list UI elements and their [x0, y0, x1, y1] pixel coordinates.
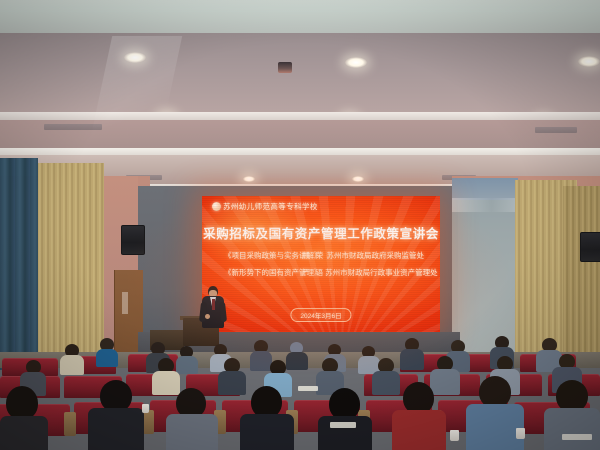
- audience-torso: [466, 404, 524, 450]
- ceiling-downlight: [124, 52, 146, 63]
- session-topic: 《项目采购政策与实务讲解》: [224, 250, 302, 261]
- seat-armrest: [64, 412, 76, 436]
- door-sign: [122, 292, 128, 314]
- audience-member: [152, 358, 180, 392]
- audience-torso: [88, 408, 144, 450]
- glass-reflection: [452, 198, 518, 212]
- presenter-arm-right: [219, 302, 227, 323]
- wall-speaker-left: [121, 225, 145, 255]
- wall-speaker-right: [580, 232, 600, 262]
- seated-audience: [0, 330, 600, 450]
- audience-torso: [240, 414, 294, 450]
- session-topic: 《新形势下的国有资产管理》: [224, 267, 302, 278]
- audience-torso: [60, 355, 84, 375]
- handout-paper: [330, 422, 356, 428]
- ceiling-vent: [535, 127, 577, 133]
- audience-member: [400, 338, 424, 368]
- led-display-screen: 苏州幼儿师范高等专科学校 ★ ★ ★ 采购招标及国有资产管理工作政策宣讲会 ★ …: [202, 196, 440, 335]
- session-row: 《项目采购政策与实务讲解》 顾 荣 苏州市财政局政府采购监管处: [224, 250, 424, 261]
- ceiling-main-panel: [0, 33, 600, 115]
- session-org: 苏州市财政局行政事业资产管理处: [325, 267, 438, 278]
- audience-torso: [544, 408, 600, 450]
- session-list: 《项目采购政策与实务讲解》 顾 荣 苏州市财政局政府采购监管处 《新形势下的国有…: [224, 250, 424, 284]
- session-row: 《新形势下的国有资产管理》 严 语 苏州市财政局行政事业资产管理处: [224, 267, 424, 278]
- paper-cup: [516, 428, 525, 439]
- audience-member: [166, 388, 218, 450]
- session-speaker: 严 语: [302, 267, 325, 278]
- audience-member: [60, 344, 84, 372]
- ceiling-sensor-icon: [278, 62, 292, 73]
- audience-member: [0, 386, 48, 450]
- ceiling-downlight: [578, 56, 600, 67]
- audience-member: [318, 388, 372, 450]
- university-seal-icon: [212, 202, 221, 211]
- audience-torso: [0, 416, 48, 450]
- audience-member: [96, 338, 118, 364]
- presenter-hand: [205, 314, 210, 319]
- auditorium-photo: 苏州幼儿师范高等专科学校 ★ ★ ★ 采购招标及国有资产管理工作政策宣讲会 ★ …: [0, 0, 600, 450]
- paper-cup: [450, 430, 459, 441]
- audience-member: [466, 376, 524, 450]
- ceiling-downlight: [345, 57, 367, 68]
- session-org: 苏州市财政局政府采购监管处: [327, 250, 425, 261]
- ceiling-vent: [44, 124, 102, 130]
- audience-member: [316, 358, 344, 392]
- handout-paper: [562, 434, 592, 440]
- audience-torso: [96, 349, 118, 367]
- led-title-row: ★ ★ ★ 采购招标及国有资产管理工作政策宣讲会 ★ ★ ★: [202, 220, 440, 244]
- audience-member: [240, 386, 294, 450]
- ceiling-downlight: [243, 176, 255, 182]
- audience-member: [392, 382, 446, 450]
- audience-torso: [392, 410, 446, 450]
- ceiling-downlight: [352, 176, 364, 182]
- event-title: 采购招标及国有资产管理工作政策宣讲会: [203, 223, 439, 242]
- university-logo: 苏州幼儿师范高等专科学校: [212, 201, 318, 212]
- audience-torso: [166, 414, 218, 450]
- presenter-tie: [212, 299, 215, 310]
- university-logo-text: 苏州幼儿师范高等专科学校: [223, 201, 318, 212]
- audience-torso: [400, 349, 424, 370]
- audience-member: [88, 380, 144, 450]
- glass-partition-top: [452, 178, 518, 200]
- session-speaker: 顾 荣: [302, 250, 327, 261]
- audience-head: [6, 386, 38, 420]
- paper-cup: [142, 404, 149, 413]
- handout-paper: [298, 386, 318, 391]
- event-date-badge: 2024年3月6日: [290, 308, 351, 322]
